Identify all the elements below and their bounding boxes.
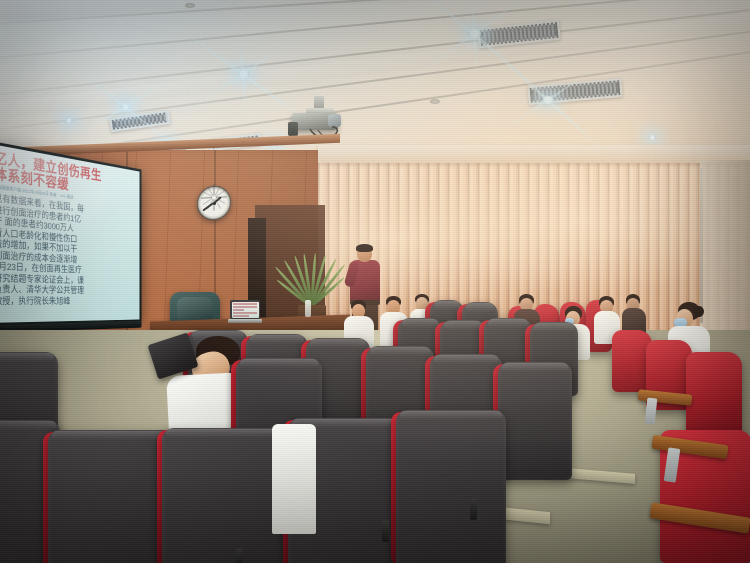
slide-source-line: 日报健康客户端 2021年10月25日 作者：××× 阅读 [0,184,137,209]
projection-screen-surface: 亿人，建立创伤再生 体系刻不容缓 日报健康客户端 2021年10月25日 作者：… [0,144,140,323]
presenter-laptop [228,300,262,326]
ceiling-downlight [466,29,483,38]
seat-leg [236,548,243,563]
seat-leg [470,498,477,520]
ceiling-downlight [236,70,251,78]
smoke-detector-icon [430,99,440,104]
slide-title-line2: 体系刻不容缓 [0,165,137,202]
water-bottle [305,300,311,317]
list-item[interactable] [686,352,742,436]
smoke-detector-icon [185,3,195,8]
ceiling-downlight [541,96,555,104]
ceiling-downlight [120,104,131,110]
ceiling-downlight [648,135,657,140]
slide-body: 见有数据来看，在我国，每 进行创面治疗的患者约1亿 产 面的患者约3000万人 … [0,193,137,307]
curtain-rod [700,168,703,323]
seat-leg [382,520,389,542]
projection-screen: 亿人，建立创伤再生 体系刻不容缓 日报健康客户端 2021年10月25日 作者：… [0,140,141,326]
hair-bun [694,306,704,317]
list-item[interactable] [498,362,572,480]
curtain-valance [318,145,750,163]
attendee-between-seats [272,424,316,534]
list-item[interactable] [396,410,506,563]
lecture-hall-photo: 亿人，建立创伤再生 体系刻不容缓 日报健康客户端 2021年10月25日 作者：… [0,0,750,563]
ceiling-downlight [65,118,73,123]
slide-content: 亿人，建立创伤再生 体系刻不容缓 日报健康客户端 2021年10月25日 作者：… [0,144,140,323]
